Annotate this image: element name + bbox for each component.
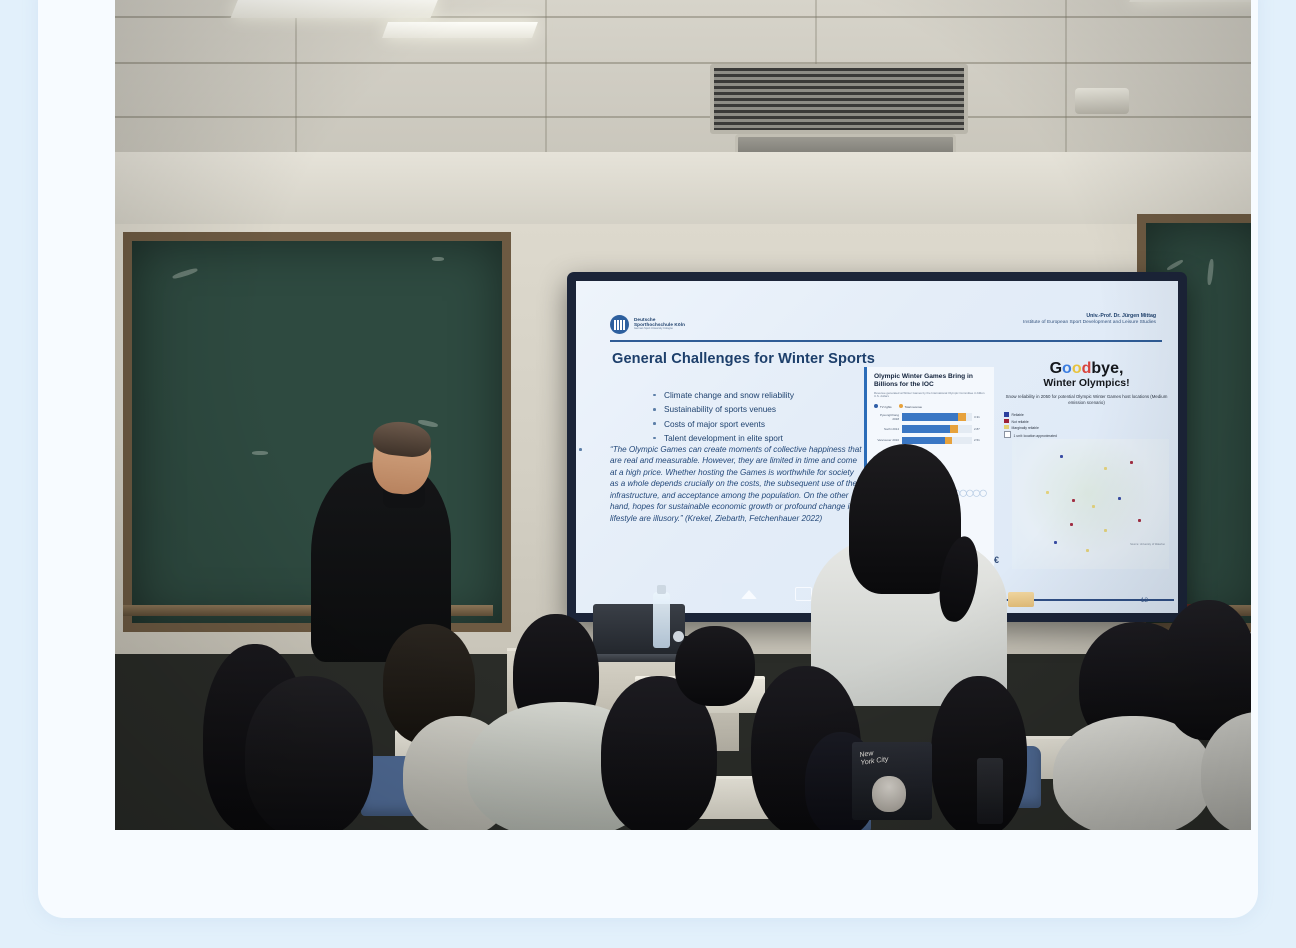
bar-label: Vancouver 2010	[874, 438, 902, 442]
legend-total-revenue: Total revenue	[899, 404, 922, 409]
slide-page-number: 12	[1141, 597, 1148, 604]
lecture-photograph: Deutsche Sporthochschule Köln German Spo…	[115, 0, 1251, 830]
page-root: Deutsche Sporthochschule Köln German Spo…	[0, 0, 1296, 948]
ceiling-duct	[1075, 88, 1129, 114]
student-head	[245, 676, 373, 830]
bar-value: 3.31	[972, 415, 987, 419]
currency-symbol: €	[994, 555, 999, 565]
europe-map	[1012, 439, 1169, 569]
window-icon[interactable]	[795, 587, 812, 601]
slide-bullet-list: Climate change and snow reliability Sust…	[610, 390, 905, 448]
table-row: PyeongChang 2018 3.31	[874, 413, 987, 421]
ceiling-light	[1129, 0, 1251, 2]
table-row: Sochi 2014 2.87	[874, 425, 987, 433]
slide-title: General Challenges for Winter Sports	[612, 351, 875, 367]
slide-quote: “The Olympic Games can create moments of…	[610, 444, 862, 524]
logo-line3: German Sport University Cologne	[634, 328, 685, 331]
map-subtitle: Snow reliability in 2050 for potential O…	[1004, 394, 1169, 406]
university-logo: Deutsche Sporthochschule Köln German Spo…	[610, 315, 685, 334]
air-vent-icon	[710, 64, 968, 134]
annotation-slider-handle[interactable]	[1008, 592, 1034, 607]
bar-value: 2.51	[972, 438, 987, 442]
ceiling	[115, 0, 1251, 226]
ceiling-light	[231, 0, 440, 18]
student-head	[675, 626, 755, 706]
statista-title: Olympic Winter Games Bring in Billions f…	[874, 373, 987, 389]
table-row: Vancouver 2010 2.51	[874, 437, 987, 445]
statista-legend: TV rights Total revenue	[874, 404, 987, 409]
presenter-name: Univ.-Prof. Dr. Jürgen Mittag	[1023, 313, 1156, 320]
statista-bars: PyeongChang 2018 3.31 Sochi 2014 2.87 Va…	[874, 413, 987, 444]
student-tote-bag: New York City	[852, 742, 932, 820]
presenter-institute: Institute of European Sport Development …	[1023, 320, 1156, 327]
header-divider	[610, 340, 1162, 342]
presenter-block: Univ.-Prof. Dr. Jürgen Mittag Institute …	[1023, 313, 1156, 327]
legend-tv-rights: TV rights	[874, 404, 892, 409]
laptop	[593, 604, 685, 656]
tote-text: New York City	[859, 748, 889, 767]
ceiling-light	[382, 22, 538, 38]
map-source: Source: University of Waterloo	[1130, 543, 1165, 546]
map-legend: Reliable Not reliable Marginally reliabl…	[1004, 412, 1169, 439]
home-icon[interactable]	[741, 590, 757, 599]
photo-card: Deutsche Sporthochschule Köln German Spo…	[38, 0, 1258, 918]
map-title-line1: Goodbye,	[1004, 361, 1169, 376]
university-crest-icon	[610, 315, 629, 334]
statista-subtitle: Revenue generated at Winter Games by the…	[874, 392, 987, 399]
bar-label: Sochi 2014	[874, 427, 902, 431]
bar-label: PyeongChang 2018	[874, 413, 902, 421]
map-title-line2: Winter Olympics!	[1004, 377, 1169, 389]
thermos-bottle	[977, 758, 1003, 824]
ceiling-soffit	[115, 152, 1251, 233]
goodbye-map-panel: Goodbye, Winter Olympics! Snow reliabili…	[1004, 361, 1169, 576]
teddy-bear-graphic	[872, 776, 906, 812]
bar-value: 2.87	[972, 427, 987, 431]
water-bottle	[653, 592, 670, 648]
